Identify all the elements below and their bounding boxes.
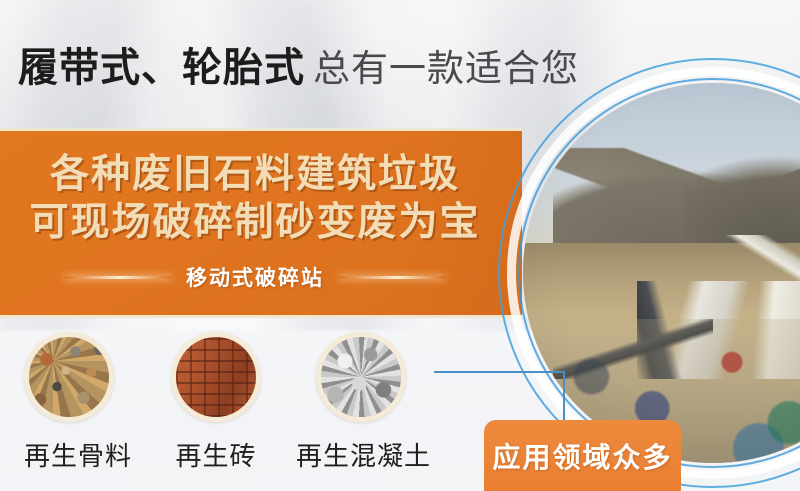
product-item-brick: 再生砖 — [171, 332, 261, 473]
product-list: 再生骨料 再生砖 再生混凝土 — [24, 332, 464, 482]
aggregate-image — [29, 337, 109, 417]
concrete-thumb — [316, 332, 406, 422]
promo-banner: 履带式、轮胎式总有一款适合您 各种废旧石料建筑垃圾 可现场破碎制砂变废为宝 移动… — [0, 0, 800, 491]
promo-subtitle: 移动式破碎站 — [186, 262, 324, 292]
promo-subtitle-row: 移动式破碎站 — [0, 262, 522, 292]
product-label-aggregate: 再生骨料 — [24, 436, 132, 473]
application-badge-label: 应用领域众多 — [492, 436, 672, 476]
hero-photo — [523, 83, 800, 463]
promo-line-2: 可现场破碎制砂变废为宝 — [0, 199, 522, 247]
flare-left-icon — [64, 276, 172, 279]
brick-thumb — [171, 332, 261, 422]
application-badge[interactable]: 应用领域众多 — [484, 420, 681, 491]
product-item-aggregate: 再生骨料 — [24, 332, 132, 473]
headline-light: 总有一款适合您 — [313, 48, 579, 89]
product-label-brick: 再生砖 — [171, 436, 261, 473]
concrete-image — [321, 337, 401, 417]
promo-panel: 各种废旧石料建筑垃圾 可现场破碎制砂变废为宝 移动式破碎站 — [0, 128, 522, 318]
banner-headline: 履带式、轮胎式总有一款适合您 — [18, 35, 579, 93]
flare-right-icon — [338, 276, 446, 279]
aggregate-thumb — [24, 332, 114, 422]
product-label-concrete: 再生混凝土 — [296, 436, 431, 473]
photo-vignette — [523, 83, 800, 463]
promo-line-1: 各种废旧石料建筑垃圾 — [0, 151, 522, 199]
headline-strong: 履带式、轮胎式 — [18, 46, 305, 90]
product-item-concrete: 再生混凝土 — [296, 332, 431, 473]
brick-image — [176, 337, 256, 417]
